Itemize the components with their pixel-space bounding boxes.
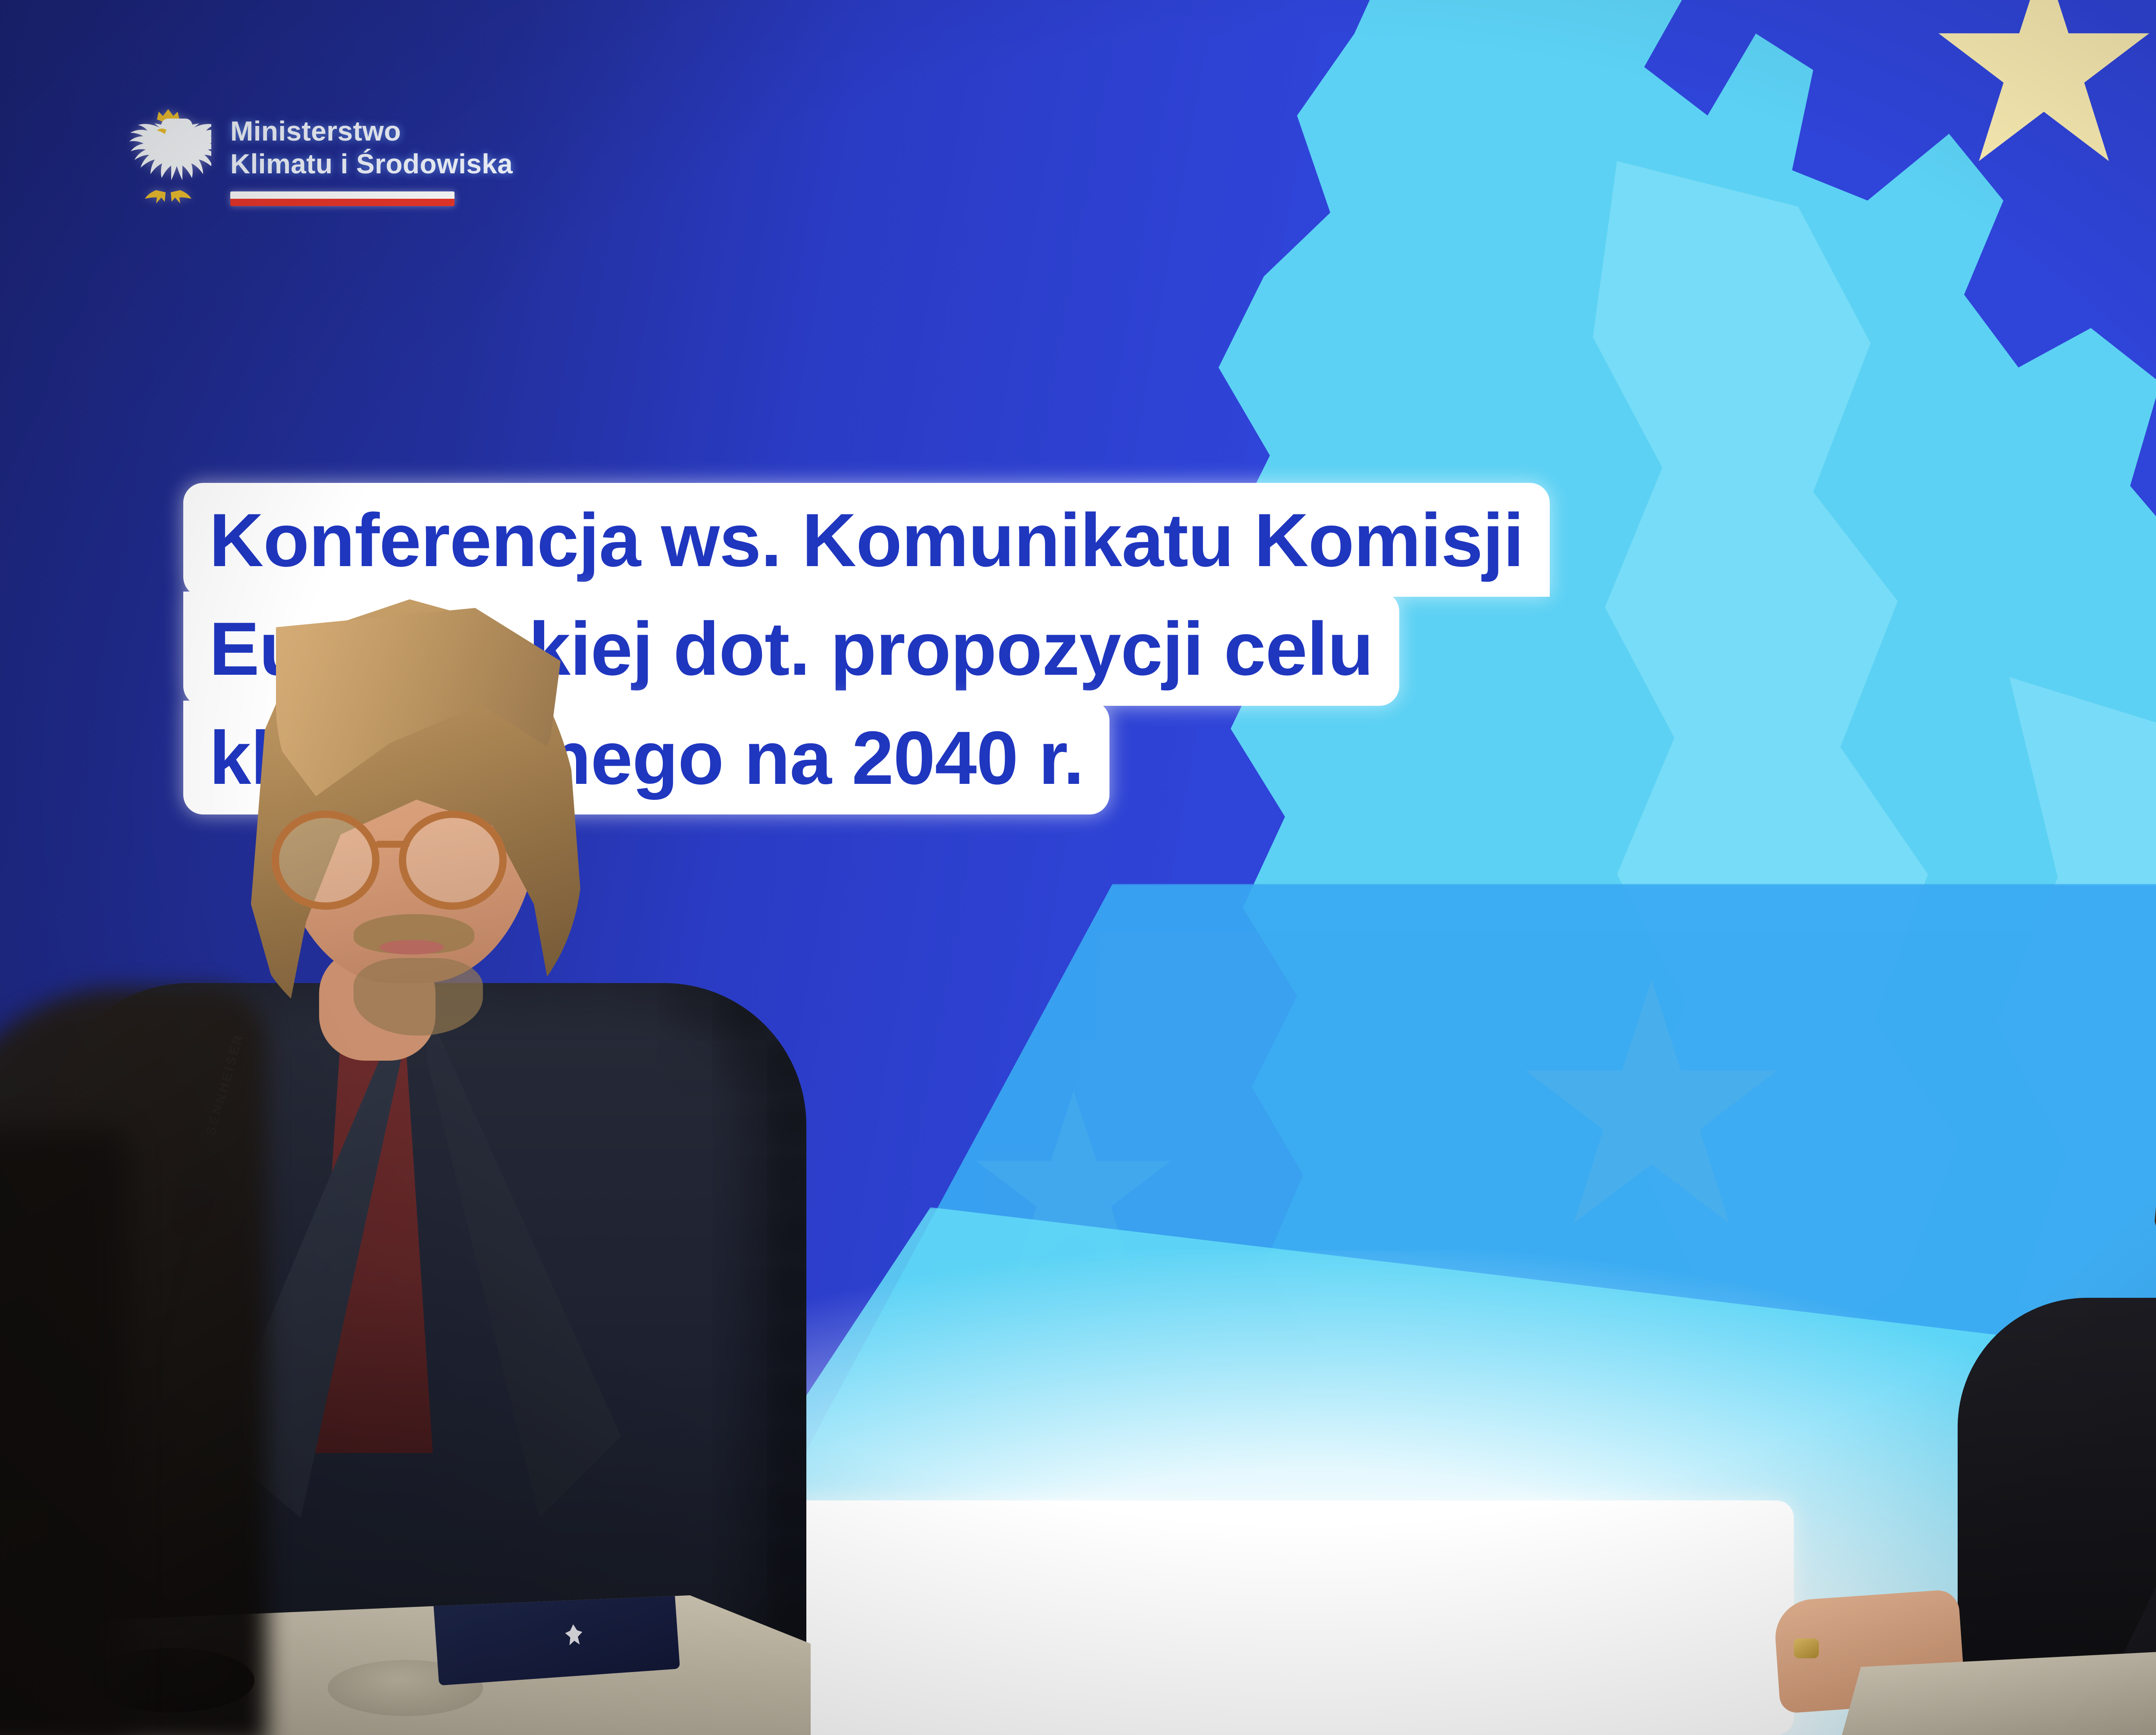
ministry-wordmark: Ministerstwo Klimatu i Środowiska [230,106,513,206]
ministry-line-2: Klimatu i Środowiska [230,148,513,181]
eyeglasses-lens-right-icon [399,811,507,910]
polish-eagle-icon [125,106,211,207]
eyeglasses-bridge-icon [375,841,410,848]
male-speaker-mouth [379,940,444,955]
press-conference-photo: Ministerstwo Klimatu i Środowiska Konfer… [0,0,2156,1735]
female-speaker [1932,836,2156,1735]
ring-icon [1794,1638,1819,1658]
eu-star-icon [1932,0,2156,177]
eyeglasses-lens-left-icon [272,811,379,910]
foreground-blurred-shadow [0,1130,129,1735]
polish-flag-bar-icon [230,191,454,206]
ministry-logo: Ministerstwo Klimatu i Środowiska [125,106,513,207]
ministry-line-1: Ministerstwo [230,115,513,148]
female-speaker-hair [2147,927,2156,1341]
male-speaker-beard [354,958,483,1036]
